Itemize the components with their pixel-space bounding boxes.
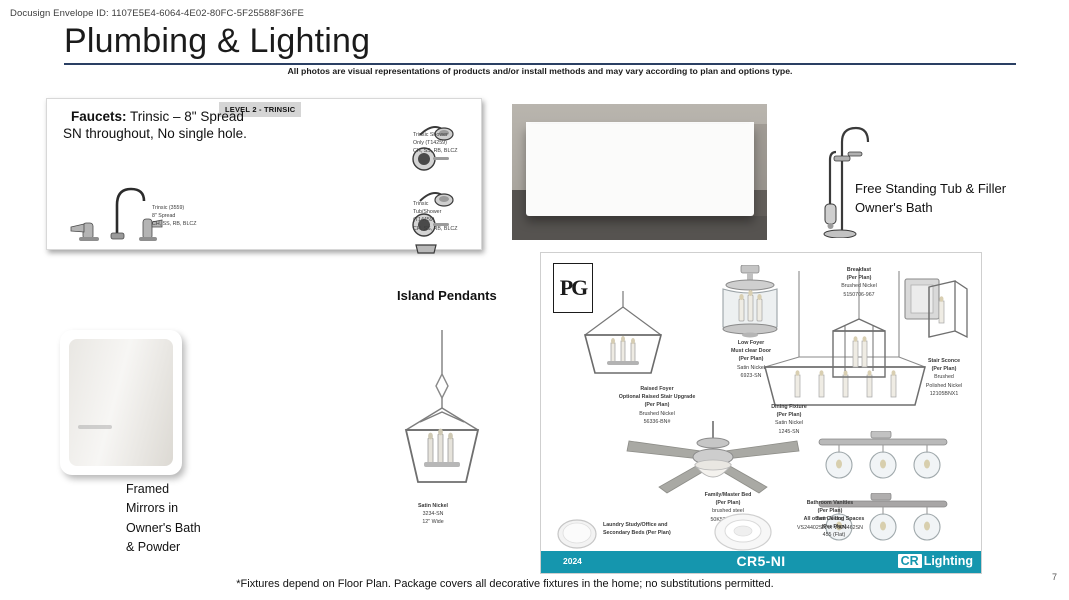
stair-sconce-icon [903,273,973,359]
spec-line: CH, SS, RB, BLCZ [152,220,196,228]
tub-body [526,124,754,216]
label-laundry-flushmount: Laundry Study/Office andSecondary Beds (… [603,521,671,537]
spec-line: 12105BNX1 [889,390,999,398]
tub-caption: Free Standing Tub & Filler Owner's Bath [855,180,1006,218]
mirror-sheen [78,425,112,429]
label-tub-shower: TrinsicTub/Shower(T14459)CH, SS, RB, BLC… [413,200,457,233]
slide-footnote: *Fixtures depend on Floor Plan. Package … [0,578,1010,590]
label-shower-only: Trinsic ShowerOnly (T14259)CH, SS, RB, B… [413,131,457,156]
spec-line: Only (T14259) [413,139,457,147]
framed-mirror-image [60,330,182,475]
lighting-board: PG Raised FoyerOptional Raised Stair [540,252,982,574]
brand-word: Lighting [924,554,973,568]
spec-line: Laundry Study/Office and [603,521,671,529]
spec-line: Brushed [889,373,999,381]
mirror-caption: Framed Mirrors in Owner's Bath & Powder [126,480,201,558]
spec-line: (Per Plan) [779,523,889,531]
all-other-ceiling-icon [713,511,773,553]
island-pendant-icon [390,330,494,500]
photo-disclaimer: All photos are visual representations of… [64,66,1016,76]
spec-line: (T14459) [413,216,457,224]
freestanding-tub-photo [512,104,767,240]
board-footer: 2024 CR5-NI CRLighting [541,551,981,573]
spec-line: (Per Plan) [719,411,859,419]
spec-line: Brushed Nickel [799,282,919,290]
spec-line: 3234-SN [418,510,448,518]
spec-line: Stair Sconce [889,357,999,365]
laundry-flushmount-icon [555,517,599,551]
slide-page: Docusign Envelope ID: 1107E5E4-6064-4E02… [0,0,1069,600]
board-footer-brand: CRLighting [898,554,973,568]
spec-line: Breakfast [799,266,919,274]
island-pendants-title: Island Pendants [397,288,497,303]
spec-line: Raised Foyer [577,385,737,393]
label-breakfast: Breakfast(Per Plan)Brushed Nickel5150706… [799,266,919,299]
bathroom-vanity-3light-icon [813,431,953,487]
brand-mark: CR [898,554,922,568]
page-number: 7 [1052,572,1057,582]
tub-filler-icon [806,108,878,238]
spec-line: Polished Nickel [889,382,999,390]
page-title: Plumbing & Lighting [64,22,370,61]
raised-foyer-lantern-icon [571,291,675,383]
spec-line: Secondary Beds (Per Plan) [603,529,671,537]
label-stair-sconce: Stair Sconce(Per Plan)BrushedPolished Ni… [889,357,999,398]
docusign-envelope-id: Docusign Envelope ID: 1107E5E4-6064-4E02… [10,8,304,19]
spec-line: CH, SS, RB, BLCZ [413,225,457,233]
spec-line: Optional Raised Stair Upgrade [577,393,737,401]
faucet-heading-rest: Trinsic – 8" Spread [127,109,244,124]
spec-line: Satin Nickel [418,502,448,510]
spec-line: Family/Master Bed [663,491,793,499]
label-all-other-ceiling: All other Ceiling Spaces(Per Plan)455 (F… [779,515,889,540]
spec-line: Dining Fixture [719,403,859,411]
spec-line: (Per Plan) [577,401,737,409]
faucet-heading-bold: Faucets: [71,109,127,124]
spec-line: 8" Spread [152,212,196,220]
label-widespread-faucet: Trinsic (3559)8" SpreadCH, SS, RB, BLCZ [152,204,196,229]
spec-line: (Per Plan) [799,274,919,282]
tub-caption-line1: Free Standing Tub & Filler [855,180,1006,199]
spec-line: Trinsic [413,200,457,208]
label-raised-foyer: Raised FoyerOptional Raised Stair Upgrad… [577,385,737,426]
mirror-glass [69,339,173,466]
spec-line: Trinsic Shower [413,131,457,139]
spec-line: CH, SS, RB, BLCZ [413,147,457,155]
spec-line: Tub/Shower [413,208,457,216]
spec-line: (Per Plan) [889,365,999,373]
faucet-subheading: SN throughout, No single hole. [63,126,247,141]
spec-line: 5150706-967 [799,291,919,299]
island-pendant-spec: Satin Nickel3234-SN12" Wide [418,502,448,527]
spec-line: All other Ceiling Spaces [779,515,889,523]
spec-line: 455 (Flat) [779,531,889,539]
spec-line: Brushed Nickel [577,410,737,418]
spec-line: Trinsic (3559) [152,204,196,212]
spec-line: Bathroom Vanities [765,499,895,507]
title-divider [64,63,1016,65]
spec-line: 12" Wide [418,518,448,526]
faucet-heading: Faucets: Trinsic – 8" Spread [71,109,244,124]
tub-caption-line2: Owner's Bath [855,199,1006,218]
